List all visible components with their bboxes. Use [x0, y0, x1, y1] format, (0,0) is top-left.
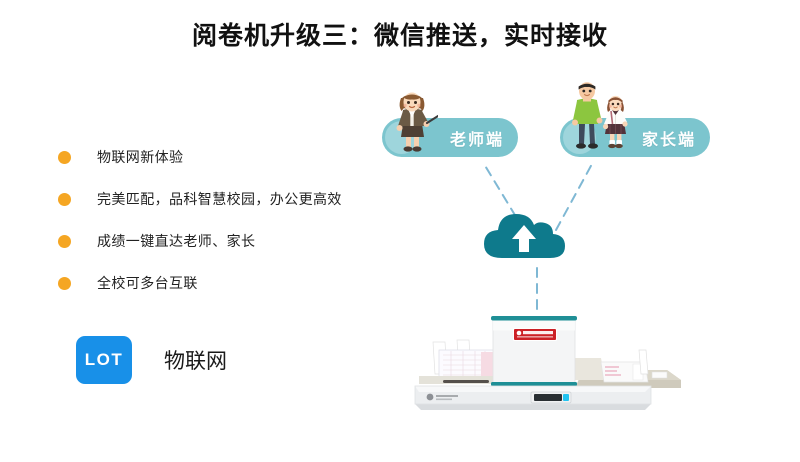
bullet-dot-icon — [58, 151, 71, 164]
child-figure — [603, 96, 628, 148]
omr-scanner-icon — [405, 300, 705, 420]
bullet-dot-icon — [58, 193, 71, 206]
list-item: 全校可多台互联 — [58, 272, 388, 294]
endpoint-parent[interactable]: 家长端 — [560, 118, 710, 157]
iot-badge-label: 物联网 — [164, 345, 227, 375]
list-item-label: 完美匹配，品科智慧校园，办公更高效 — [97, 189, 342, 209]
omr-scanner-machine — [405, 300, 705, 420]
brand-label — [513, 328, 557, 341]
cloud-node[interactable] — [480, 206, 568, 264]
list-item-label: 全校可多台互联 — [97, 273, 198, 293]
teacher-figure-icon — [386, 88, 438, 154]
bullet-dot-icon — [58, 235, 71, 248]
push-flow-diagram: 老师端 — [360, 78, 740, 458]
list-item: 成绩一键直达老师、家长 — [58, 230, 388, 252]
iot-badge-block: LOT 物联网 — [76, 336, 227, 384]
feature-bullet-list: 物联网新体验 完美匹配，品科智慧校园，办公更高效 成绩一键直达老师、家长 全校可… — [58, 146, 388, 314]
endpoint-teacher-label: 老师端 — [450, 126, 504, 150]
cloud-upload-icon — [480, 206, 568, 264]
control-display — [531, 392, 571, 403]
bullet-dot-icon — [58, 277, 71, 290]
list-item: 物联网新体验 — [58, 146, 388, 168]
page-title: 阅卷机升级三：微信推送，实时接收 — [0, 16, 800, 52]
father-figure — [572, 82, 603, 148]
list-item: 完美匹配，品科智慧校园，办公更高效 — [58, 188, 388, 210]
iot-badge: LOT — [76, 336, 132, 384]
list-item-label: 物联网新体验 — [97, 147, 183, 167]
list-item-label: 成绩一键直达老师、家长 — [97, 231, 255, 251]
parent-child-figure-icon — [562, 82, 640, 154]
endpoint-parent-label: 家长端 — [642, 126, 696, 150]
endpoint-teacher[interactable]: 老师端 — [382, 118, 518, 157]
input-sheets — [433, 340, 495, 382]
